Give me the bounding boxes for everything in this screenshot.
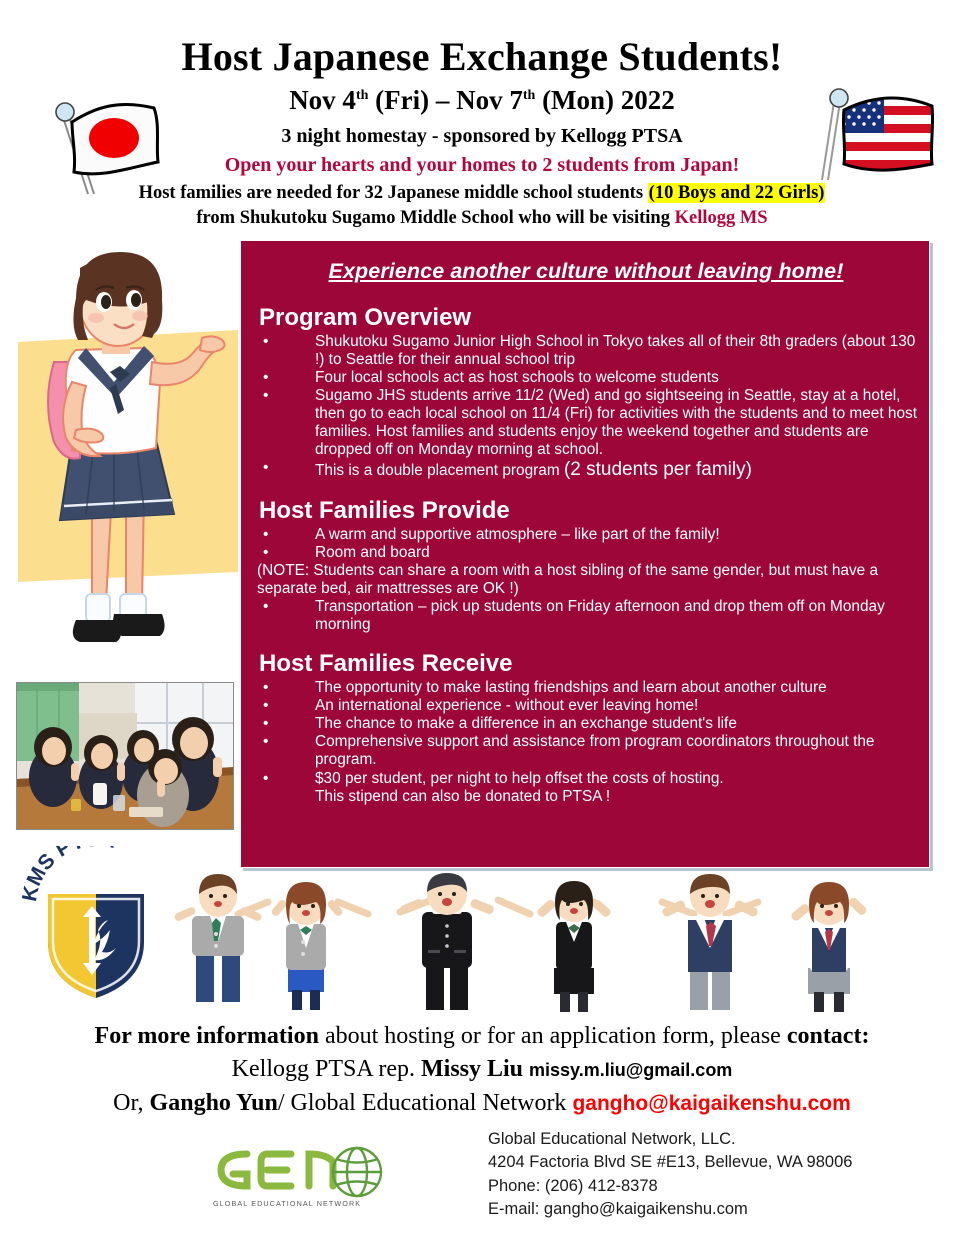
ptsa-rep-prefix: Kellogg PTSA rep. (232, 1056, 421, 1082)
ptsa-rep-line: Kellogg PTSA rep. Missy Liu missy.m.liu@… (0, 1055, 964, 1084)
date-mid: (Fri) – Nov 7 (368, 85, 522, 115)
date-post: (Mon) 2022 (535, 85, 674, 115)
list-item-text: Transportation – pick up students on Fri… (315, 598, 917, 634)
japanese-students-classroom-photo (16, 682, 234, 830)
bullet-marker: • (257, 459, 315, 477)
list-item: •Comprehensive support and assistance fr… (257, 733, 917, 769)
call-to-action-line: Open your hearts and your homes to 2 stu… (0, 154, 964, 177)
list-item-text: This is a double placement program (2 st… (315, 459, 917, 481)
list-item: •Room and board (257, 544, 917, 562)
contact-intro-bold-1: For more information (95, 1023, 319, 1049)
list-item: •The opportunity to make lasting friends… (257, 679, 917, 697)
section-program-overview: Program Overview •Shukutoku Sugamo Junio… (255, 304, 917, 481)
contact-intro-bold-2: contact: (787, 1023, 870, 1049)
list-item-text: Comprehensive support and assistance fro… (315, 733, 917, 769)
bullet-marker: • (257, 679, 315, 697)
gen-company-name: Global Educational Network, LLC. (488, 1128, 908, 1151)
ptsa-rep-name: Missy Liu (421, 1056, 523, 1082)
list-item: •Shukutoku Sugamo Junior High School in … (257, 333, 917, 369)
host-needed-line: Host families are needed for 32 Japanese… (0, 183, 964, 204)
page-title: Host Japanese Exchange Students! (0, 36, 964, 78)
date-sup-2: th (523, 88, 535, 103)
list-item: •The chance to make a difference in an e… (257, 715, 917, 733)
panel-banner: Experience another culture without leavi… (255, 259, 917, 284)
gen-contact-prefix: Or, (113, 1090, 149, 1116)
list-item-text: The chance to make a difference in an ex… (315, 715, 917, 733)
bullet-marker: • (257, 770, 315, 788)
list-item-text: This stipend can also be donated to PTSA… (315, 788, 917, 806)
list-item: This stipend can also be donated to PTSA… (257, 788, 917, 806)
list-item: •Sugamo JHS students arrive 11/2 (Wed) a… (257, 387, 917, 459)
gen-phone: Phone: (206) 412-8378 (488, 1175, 908, 1198)
list-item: •A warm and supportive atmosphere – like… (257, 526, 917, 544)
list-item-text: An international experience - without ev… (315, 697, 917, 715)
bullet-marker: • (257, 697, 315, 715)
date-range: Nov 4th (Fri) – Nov 7th (Mon) 2022 (0, 85, 964, 116)
section-host-families-receive: Host Families Receive •The opportunity t… (255, 650, 917, 805)
bullet-marker: • (257, 733, 315, 751)
gen-street-address: 4204 Factoria Blvd SE #E13, Bellevue, WA… (488, 1151, 908, 1174)
list-item-text: Four local schools act as host schools t… (315, 369, 917, 387)
date-pre: Nov 4 (289, 85, 356, 115)
section-heading: Host Families Receive (259, 650, 917, 678)
school-origin-line: from Shukutoku Sugamo Middle School who … (0, 208, 964, 229)
flyer-page: Host Japanese Exchange Students! Nov 4th… (0, 0, 964, 1240)
list-item-text: Room and board (315, 544, 917, 562)
bullet-marker: • (257, 526, 315, 544)
school-origin-text: from Shukutoku Sugamo Middle School who … (196, 208, 674, 228)
list-item: •Four local schools act as host schools … (257, 369, 917, 387)
gen-contact-email[interactable]: gangho@kaigaikenshu.com (572, 1092, 850, 1115)
gender-count-highlight: (10 Boys and 22 Girls) (648, 183, 826, 203)
contact-intro-line: For more information about hosting or fo… (0, 1022, 964, 1051)
japanese-schoolgirl-illustration (14, 242, 238, 672)
list-item: •$30 per student, per night to help offs… (257, 770, 917, 788)
section-heading: Host Families Provide (259, 497, 917, 525)
gen-email[interactable]: E-mail: gangho@kaigaikenshu.com (488, 1198, 908, 1221)
gen-logo: GLOBAL EDUCATIONAL NETWORK (205, 1140, 390, 1212)
list-item-text: Sugamo JHS students arrive 11/2 (Wed) an… (315, 387, 917, 459)
gen-address-block: Global Educational Network, LLC. 4204 Fa… (488, 1128, 908, 1222)
note-text: (NOTE: Students can share a room with a … (257, 562, 917, 598)
bullet-marker: • (257, 333, 315, 351)
list-item: •Transportation – pick up students on Fr… (257, 598, 917, 634)
homestay-sponsor-line: 3 night homestay - sponsored by Kellogg … (0, 125, 964, 148)
bullet-marker: • (257, 598, 315, 616)
date-sup-1: th (356, 88, 368, 103)
list-item-text: Shukutoku Sugamo Junior High School in T… (315, 333, 917, 369)
students-holding-hands-illustration (150, 872, 870, 1020)
gen-contact-line: Or, Gangho Yun/ Global Educational Netwo… (0, 1089, 964, 1118)
list-item-text: $30 per student, per night to help offse… (315, 770, 917, 788)
bullet-marker: • (257, 369, 315, 387)
section-heading: Program Overview (259, 304, 917, 332)
host-needed-text: Host families are needed for 32 Japanese… (139, 183, 648, 203)
list-item-text: A warm and supportive atmosphere – like … (315, 526, 917, 544)
contact-intro-mid: about hosting or for an application form… (319, 1023, 787, 1049)
bullet-marker: • (257, 715, 315, 733)
list-item: •An international experience - without e… (257, 697, 917, 715)
list-item-main: This is a double placement program (315, 462, 564, 479)
bullet-marker: • (257, 544, 315, 562)
program-details-panel: Experience another culture without leavi… (240, 240, 930, 868)
list-item: •This is a double placement program (2 s… (257, 459, 917, 481)
gen-contact-name: Gangho Yun (150, 1090, 278, 1116)
bullet-marker: • (257, 387, 315, 405)
section-host-families-provide: Host Families Provide •A warm and suppor… (255, 497, 917, 634)
gen-logo-tagline: GLOBAL EDUCATIONAL NETWORK (213, 1199, 361, 1208)
flyer-header: Host Japanese Exchange Students! Nov 4th… (0, 0, 964, 229)
list-item-emphasis: (2 students per family) (564, 459, 752, 480)
host-school-name: Kellogg MS (675, 208, 768, 228)
ptsa-rep-email[interactable]: missy.m.liu@gmail.com (529, 1060, 732, 1080)
contact-footer: For more information about hosting or fo… (0, 1022, 964, 1118)
gen-contact-org: / Global Educational Network (278, 1090, 573, 1116)
list-item-text: The opportunity to make lasting friendsh… (315, 679, 917, 697)
